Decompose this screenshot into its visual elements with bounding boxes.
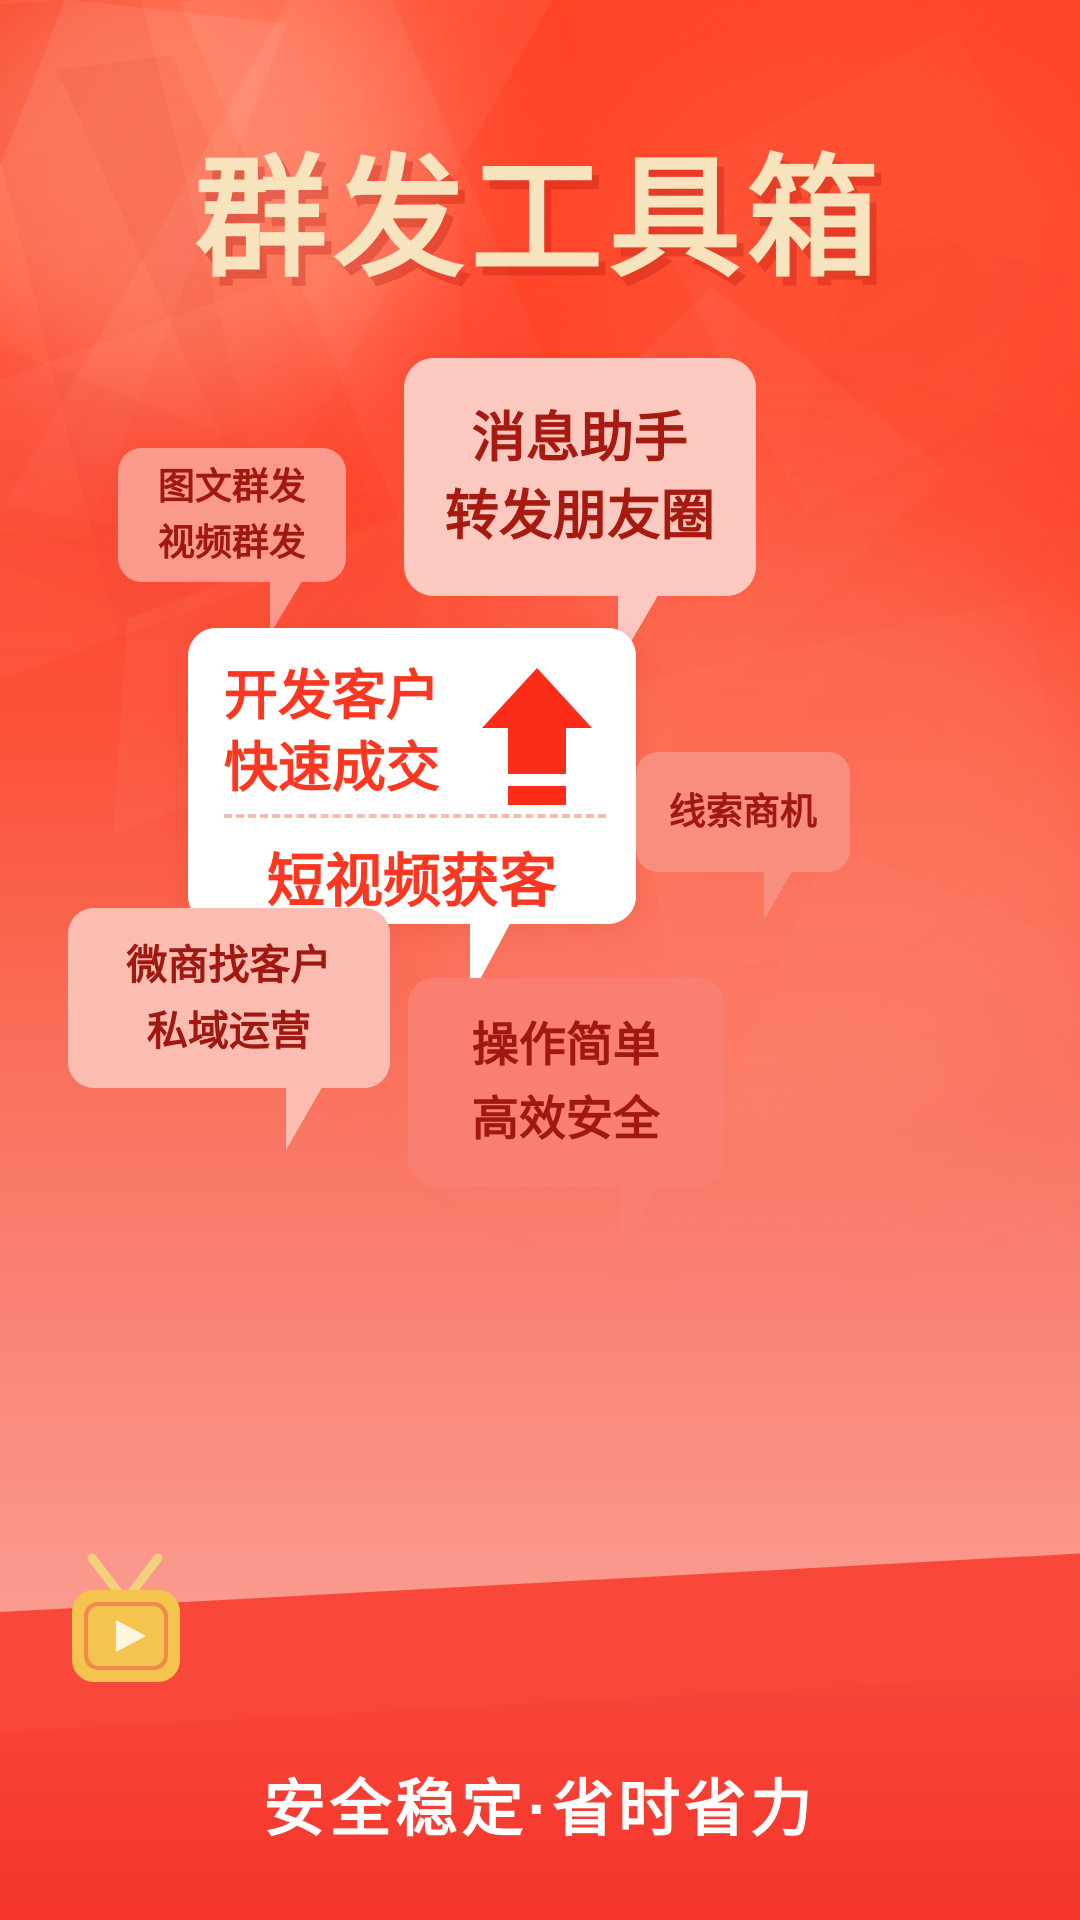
tv-play-icon[interactable] <box>62 1552 190 1688</box>
bubble-tail-icon <box>286 1084 324 1150</box>
center-card-headline-line-2: 快速成交 <box>224 732 440 804</box>
bubble-tuwen-line-2: 视频群发 <box>158 515 306 571</box>
bubble-tuwen-line-1: 图文群发 <box>158 459 306 515</box>
bubble-xiansuo-line-1: 线索商机 <box>669 783 817 841</box>
center-highlight-card[interactable]: 开发客户 快速成交 短视频获客 <box>188 628 636 924</box>
bubble-tail-icon <box>620 1182 660 1254</box>
center-card-headline: 开发客户 快速成交 <box>224 660 440 804</box>
bubble-xiansuo-shangji[interactable]: 线索商机 <box>636 752 850 872</box>
bubble-weishang-line-2: 私域运营 <box>147 998 311 1064</box>
bubble-weishang-line-1: 微商找客户 <box>127 932 332 998</box>
bubble-xiaoxi-line-2: 转发朋友圈 <box>445 477 715 555</box>
bubble-caozuo-line-1: 操作简单 <box>472 1008 660 1082</box>
bubble-caozuo-jiandan[interactable]: 操作简单 高效安全 <box>408 978 724 1186</box>
bubble-tail-icon <box>764 868 794 920</box>
center-card-subtitle: 短视频获客 <box>188 834 636 918</box>
tagline: 安全稳定·省时省力 <box>0 1758 1080 1848</box>
bubble-xiaoxi-zhushou[interactable]: 消息助手 转发朋友圈 <box>404 358 756 596</box>
page-title-wrapper: 群发工具箱 <box>0 150 1080 289</box>
card-dashed-divider <box>224 814 606 818</box>
poster-root: 群发工具箱 图文群发 视频群发 消息助手 转发朋友圈 开发客户 快速成交 短视频… <box>0 0 1080 1920</box>
page-title: 群发工具箱 <box>195 150 885 289</box>
arrow-up-icon <box>478 664 596 816</box>
bubble-caozuo-line-2: 高效安全 <box>472 1082 660 1156</box>
bubble-weishang-kehu[interactable]: 微商找客户 私域运营 <box>68 908 390 1088</box>
center-card-headline-line-1: 开发客户 <box>224 660 440 732</box>
bottom-banner: 安全稳定·省时省力 <box>0 1658 1080 1920</box>
bubble-tail-icon <box>270 578 304 634</box>
bubble-tuwen-qunfa[interactable]: 图文群发 视频群发 <box>118 448 346 582</box>
bubble-xiaoxi-line-1: 消息助手 <box>472 399 688 477</box>
